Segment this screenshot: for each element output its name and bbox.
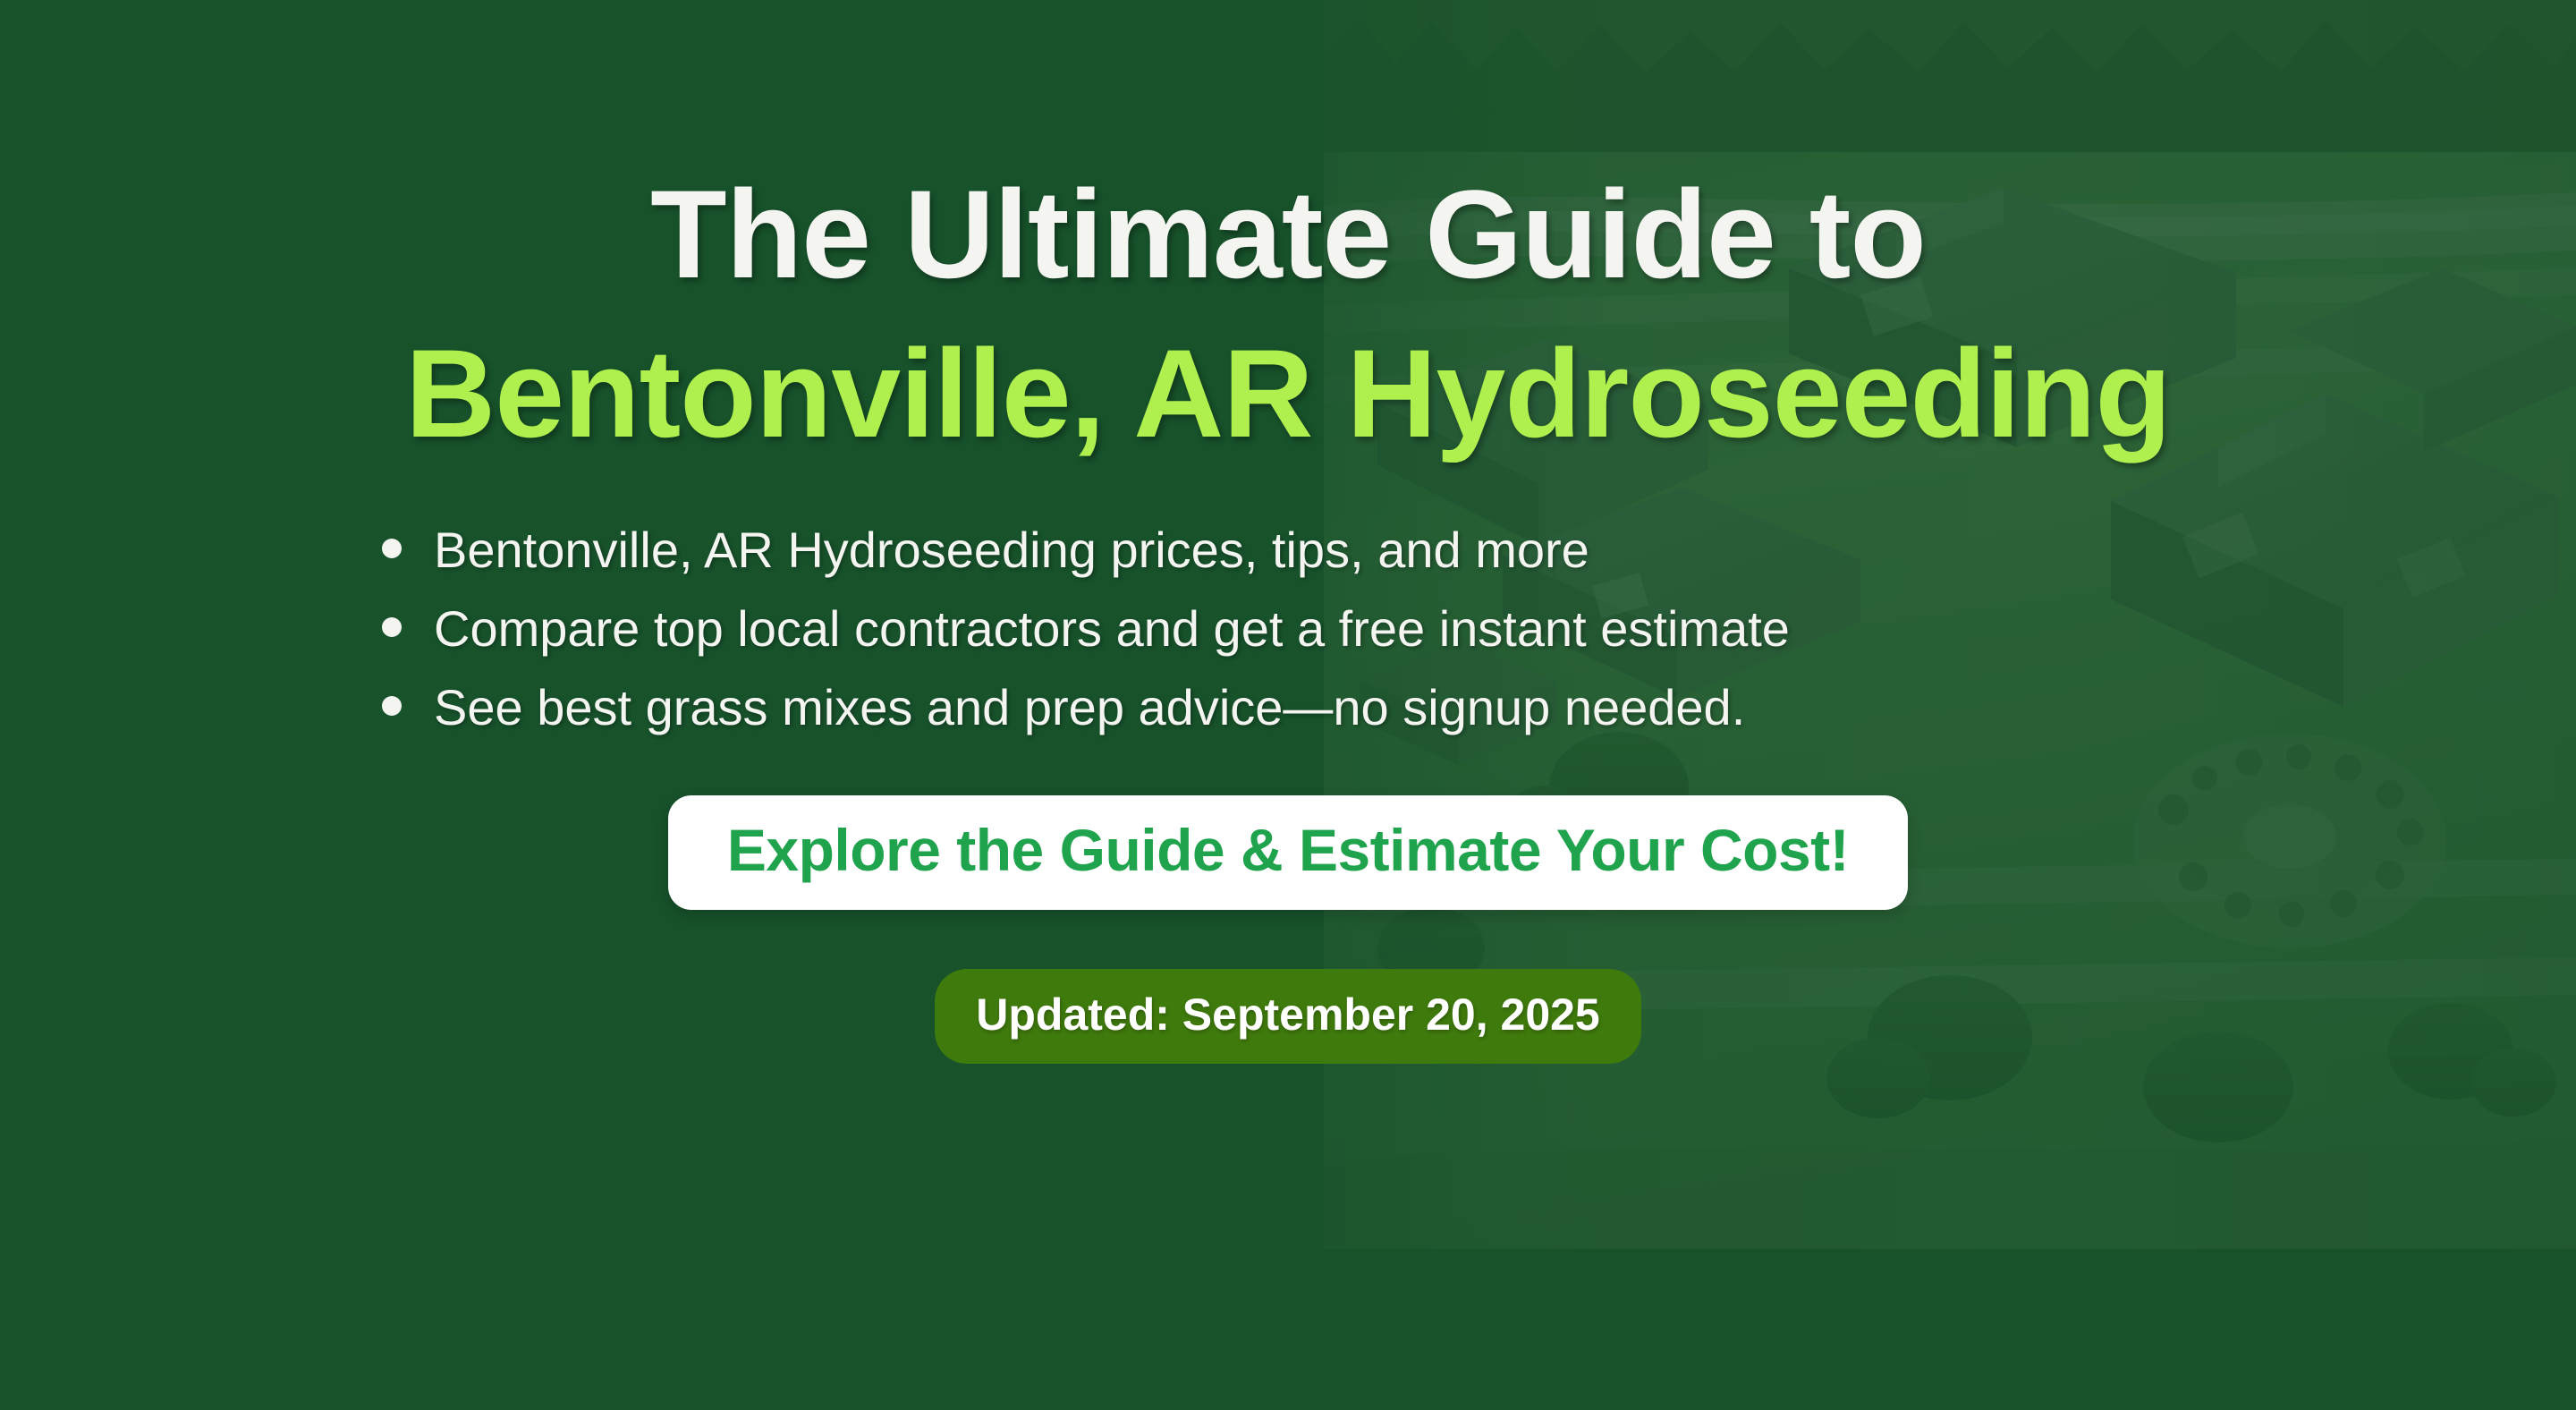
hero-content: The Ultimate Guide to Bentonville, AR Hy…	[0, 0, 2576, 1410]
list-item: See best grass mixes and prep advice—no …	[382, 678, 2194, 737]
feature-bullet-list: Bentonville, AR Hydroseeding prices, tip…	[0, 521, 2576, 757]
bullet-dot-icon	[382, 617, 402, 637]
bullet-dot-icon	[382, 539, 402, 558]
list-item: Compare top local contractors and get a …	[382, 599, 2194, 658]
last-updated-badge: Updated: September 20, 2025	[935, 969, 1641, 1064]
bullet-dot-icon	[382, 696, 402, 716]
bullet-text: Compare top local contractors and get a …	[434, 599, 1790, 658]
page-title-line-two: Bentonville, AR Hydroseeding	[405, 331, 2171, 456]
bullet-text: Bentonville, AR Hydroseeding prices, tip…	[434, 521, 1589, 580]
list-item: Bentonville, AR Hydroseeding prices, tip…	[382, 521, 2194, 580]
hero-banner: The Ultimate Guide to Bentonville, AR Hy…	[0, 0, 2576, 1410]
explore-guide-cta-button[interactable]: Explore the Guide & Estimate Your Cost!	[668, 795, 1908, 910]
page-title-line-one: The Ultimate Guide to	[650, 172, 1926, 297]
bullet-text: See best grass mixes and prep advice—no …	[434, 678, 1745, 737]
